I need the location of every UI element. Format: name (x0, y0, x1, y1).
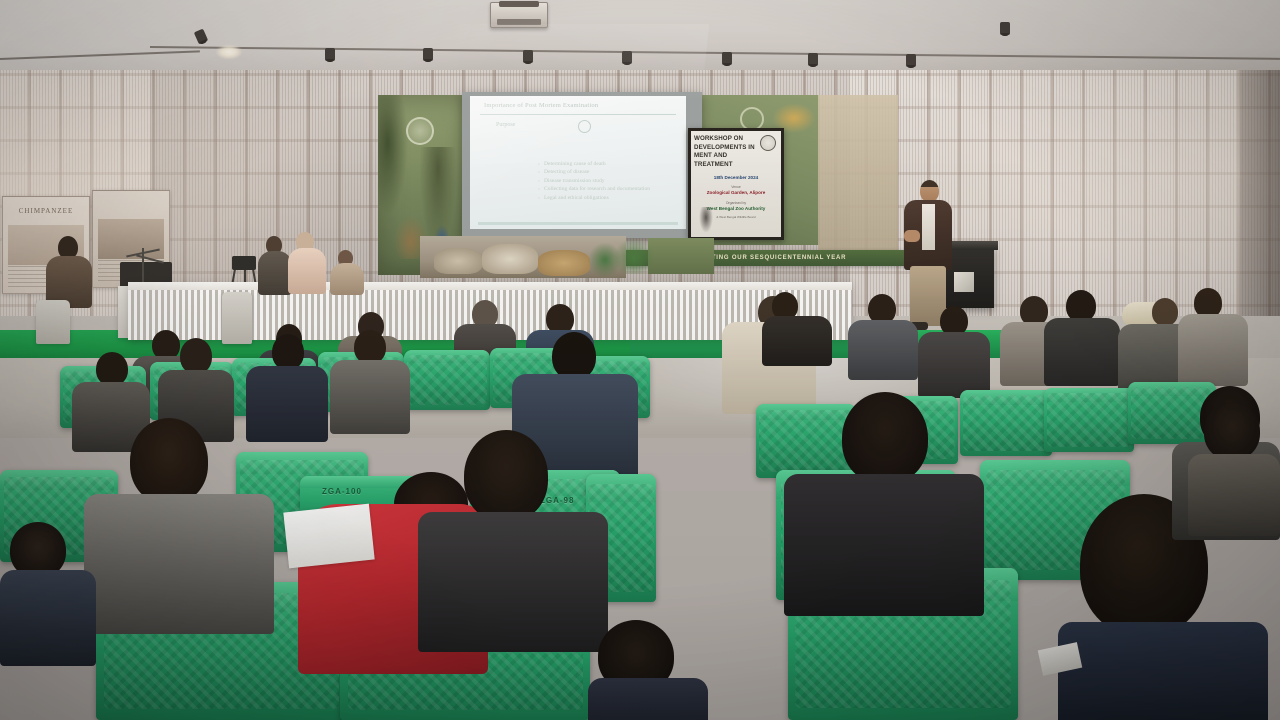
chair[interactable] (404, 350, 490, 410)
spotlight-icon (1000, 22, 1010, 35)
person-torso (0, 570, 96, 666)
spotlight-icon (722, 52, 732, 65)
slide-subtitle: Purpose (496, 122, 515, 128)
speaker-hand (904, 230, 920, 242)
speaker-head (920, 180, 939, 202)
person-torso (330, 360, 410, 434)
person-head (96, 352, 128, 386)
ceiling-lamp-glow (216, 45, 242, 59)
dais-person-3 (330, 250, 364, 294)
audience-member-foreground (418, 430, 608, 640)
projector-mount (499, 1, 539, 7)
person-head (464, 430, 548, 522)
person-head (1204, 402, 1260, 460)
stage-backdrop-panel (818, 95, 898, 255)
banner-figure-graphic (699, 207, 713, 233)
person-torso (288, 248, 326, 294)
audience-member (0, 522, 96, 662)
spotlight-icon (622, 51, 632, 64)
slide-bullet: Detecting of disease (538, 168, 674, 176)
audience-member (848, 294, 918, 376)
chair-backrest (1047, 393, 1132, 447)
mural-foliage (378, 95, 408, 215)
person-torso (258, 251, 292, 295)
person-torso (330, 263, 364, 295)
event-banner: WORKSHOP ON DEVELOPMENTS IN MENT AND TRE… (691, 131, 781, 237)
person-torso (84, 494, 274, 634)
audience-member (46, 236, 92, 306)
spotlight-icon (423, 48, 433, 61)
tripod-head (232, 256, 256, 270)
person-head (354, 330, 386, 364)
person-head (130, 418, 208, 504)
person-head (180, 338, 212, 374)
audience-member (588, 620, 708, 720)
mural-emblem-icon (406, 117, 434, 145)
speaker-shirt (922, 204, 935, 250)
projection-screen: Importance of Post Mortem Examination Pu… (470, 96, 686, 229)
banner-venue-label: Venue (691, 185, 781, 189)
stage-green-panel (648, 238, 714, 274)
poster-title: CHIMPANZEE (7, 207, 85, 215)
ceiling-projector (490, 2, 548, 28)
slide-bullet: Collecting data for research and documen… (538, 185, 674, 193)
audience-member (1044, 290, 1120, 382)
slide-circle-graphic (578, 120, 591, 133)
projector-lens (497, 19, 541, 25)
decorative-plant (614, 238, 654, 274)
person-head (272, 334, 304, 370)
person-torso (1058, 622, 1268, 720)
banner-organiser-label: Organised by (691, 201, 781, 205)
person-torso (418, 512, 608, 652)
person-torso (588, 678, 708, 720)
taxidermy-tiger (538, 250, 590, 276)
taxidermy-animal (482, 244, 538, 274)
person-torso (1178, 314, 1248, 386)
taxidermy-diorama (420, 236, 626, 278)
banner-venue: Zoological Garden, Alipore (691, 190, 781, 195)
slide-bullet: Disease transmission study (538, 177, 674, 185)
person-torso (848, 320, 918, 380)
spotlight-icon (523, 50, 533, 63)
audience-member-foreground (84, 418, 274, 628)
chair-backrest (407, 355, 488, 405)
person-head (1152, 298, 1178, 326)
slide-footer-bar (478, 222, 678, 225)
taxidermy-animal (434, 248, 482, 274)
slide-bullet: Determining cause of death (538, 160, 674, 168)
banner-heading: WORKSHOP ON DEVELOPMENTS IN MENT AND TRE… (694, 135, 766, 169)
spotlight-icon (906, 54, 916, 67)
person-torso (784, 474, 984, 616)
person-torso (762, 316, 832, 366)
spotlight-icon (808, 53, 818, 66)
photo-scene: CHIMPANZEE Importance of Post Mortem Exa… (0, 0, 1280, 720)
audience-member (1188, 402, 1280, 532)
banner-heading-line3: MENT AND TREATMENT (694, 152, 766, 169)
banner-heading-line2: DEVELOPMENTS IN (694, 144, 766, 153)
person-torso (1044, 318, 1120, 386)
audience-member-foreground (784, 392, 984, 602)
banner-heading-line1: WORKSHOP ON (694, 135, 766, 144)
person-head (552, 332, 596, 380)
audience-member (918, 306, 990, 394)
paper-sheet (283, 504, 374, 569)
spotlight-icon (325, 48, 335, 61)
chair[interactable] (1044, 388, 1134, 452)
dais-person-1 (258, 236, 292, 294)
slide-title: Importance of Post Mortem Examination (484, 102, 676, 109)
person-torso (1188, 454, 1280, 536)
chair[interactable] (36, 300, 70, 344)
slide-divider (480, 114, 676, 115)
person-head (842, 392, 928, 484)
slide-bullet-list: Determining cause of death Detecting of … (498, 160, 674, 202)
dais-person-2 (288, 232, 326, 292)
audience-member (762, 292, 832, 362)
audience-member (330, 330, 410, 430)
person-torso (918, 332, 990, 398)
banner-date: 18th December 2024 (691, 175, 781, 180)
audience-member (1178, 288, 1248, 384)
slide-bullet: Legal and ethical obligations (538, 194, 674, 202)
